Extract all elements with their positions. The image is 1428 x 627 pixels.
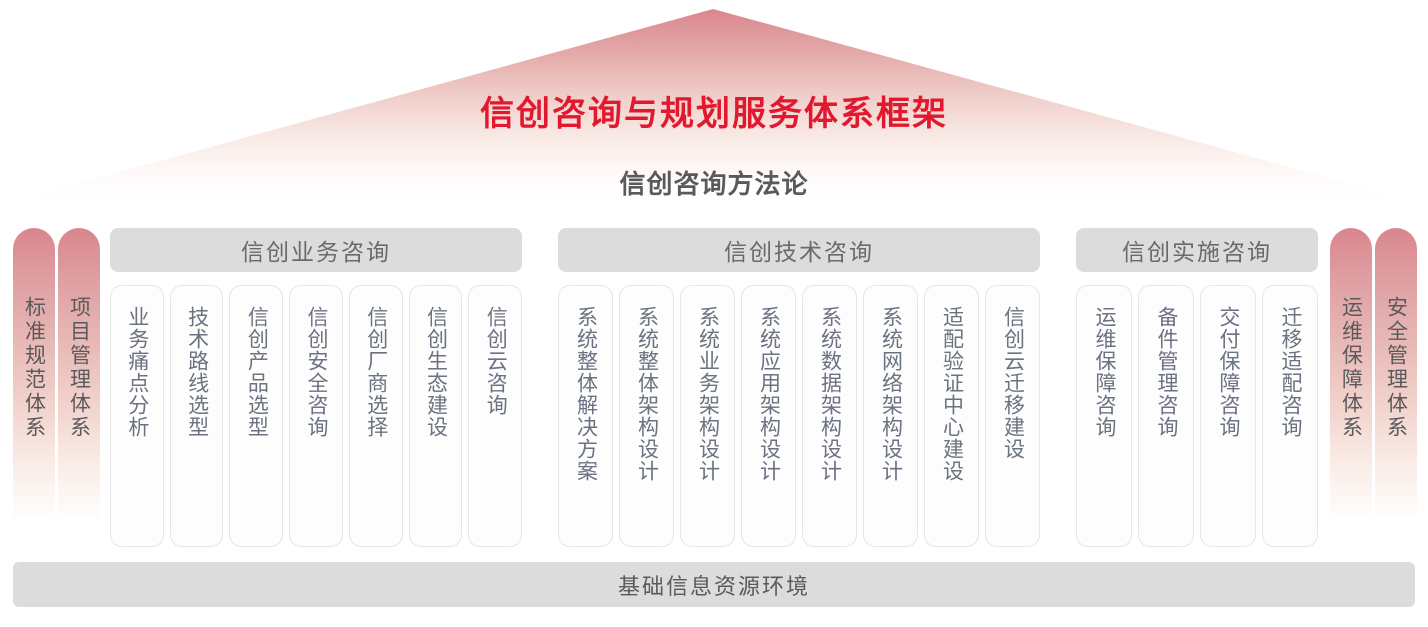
item-label: 系统整体解决方案 — [574, 306, 596, 482]
diagram-canvas: 信创咨询与规划服务体系框架 信创咨询方法论 标准规范体系 项目管理体系 运维保障… — [0, 0, 1428, 627]
item-label: 信创产品选型 — [245, 306, 267, 438]
item-card[interactable]: 系统数据架构设计 — [802, 285, 857, 547]
item-card[interactable]: 信创产品选型 — [229, 285, 283, 547]
group-item-list: 系统整体解决方案 系统整体架构设计 系统业务架构设计 系统应用架构设计 系统数据… — [558, 285, 1040, 547]
item-card[interactable]: 信创云迁移建设 — [985, 285, 1040, 547]
item-label: 系统业务架构设计 — [696, 306, 718, 482]
item-card[interactable]: 信创云咨询 — [468, 285, 522, 547]
item-label: 技术路线选型 — [186, 306, 208, 438]
item-card[interactable]: 技术路线选型 — [170, 285, 224, 547]
item-card[interactable]: 信创厂商选择 — [349, 285, 403, 547]
pillar-security-management: 安全管理体系 — [1375, 228, 1417, 548]
pillar-label: 标准规范体系 — [24, 296, 45, 440]
group-item-list: 业务痛点分析 技术路线选型 信创产品选型 信创安全咨询 信创厂商选择 信创生态建… — [110, 285, 522, 547]
pillar-standard-spec: 标准规范体系 — [13, 228, 55, 548]
item-label: 运维保障咨询 — [1093, 306, 1115, 438]
item-card[interactable]: 信创安全咨询 — [289, 285, 343, 547]
group-item-list: 运维保障咨询 备件管理咨询 交付保障咨询 迁移适配咨询 — [1076, 285, 1318, 547]
item-label: 迁移适配咨询 — [1279, 306, 1301, 438]
item-label: 交付保障咨询 — [1217, 306, 1239, 438]
item-label: 信创生态建设 — [424, 306, 446, 438]
item-card[interactable]: 信创生态建设 — [409, 285, 463, 547]
item-label: 系统网络架构设计 — [879, 306, 901, 482]
pillar-project-management: 项目管理体系 — [58, 228, 100, 548]
item-label: 系统应用架构设计 — [757, 306, 779, 482]
item-card[interactable]: 系统应用架构设计 — [741, 285, 796, 547]
item-card[interactable]: 迁移适配咨询 — [1262, 285, 1318, 547]
item-card[interactable]: 业务痛点分析 — [110, 285, 164, 547]
page-subtitle: 信创咨询方法论 — [0, 170, 1428, 199]
group-header: 信创实施咨询 — [1076, 228, 1318, 272]
group-technical-consulting: 信创技术咨询 系统整体解决方案 系统整体架构设计 系统业务架构设计 系统应用架构… — [558, 228, 1040, 547]
item-card[interactable]: 适配验证中心建设 — [924, 285, 979, 547]
item-label: 系统数据架构设计 — [818, 306, 840, 482]
item-card[interactable]: 运维保障咨询 — [1076, 285, 1132, 547]
pillar-label: 项目管理体系 — [69, 296, 90, 440]
item-label: 信创安全咨询 — [305, 306, 327, 438]
foundation-bar: 基础信息资源环境 — [13, 562, 1415, 607]
pillar-ops-guarantee: 运维保障体系 — [1330, 228, 1372, 548]
item-label: 业务痛点分析 — [126, 306, 148, 438]
item-card[interactable]: 系统整体架构设计 — [619, 285, 674, 547]
item-card[interactable]: 系统整体解决方案 — [558, 285, 613, 547]
item-card[interactable]: 系统业务架构设计 — [680, 285, 735, 547]
pillar-label: 安全管理体系 — [1386, 296, 1407, 440]
page-title: 信创咨询与规划服务体系框架 — [0, 96, 1428, 133]
item-card[interactable]: 交付保障咨询 — [1200, 285, 1256, 547]
item-card[interactable]: 系统网络架构设计 — [863, 285, 918, 547]
group-implementation-consulting: 信创实施咨询 运维保障咨询 备件管理咨询 交付保障咨询 迁移适配咨询 — [1076, 228, 1318, 547]
item-card[interactable]: 备件管理咨询 — [1138, 285, 1194, 547]
item-label: 系统整体架构设计 — [635, 306, 657, 482]
item-label: 信创云迁移建设 — [1001, 306, 1023, 460]
group-header: 信创技术咨询 — [558, 228, 1040, 272]
item-label: 信创厂商选择 — [365, 306, 387, 438]
item-label: 信创云咨询 — [484, 306, 506, 416]
group-business-consulting: 信创业务咨询 业务痛点分析 技术路线选型 信创产品选型 信创安全咨询 信创厂商选… — [110, 228, 522, 547]
item-label: 适配验证中心建设 — [940, 306, 962, 482]
pillar-label: 运维保障体系 — [1341, 296, 1362, 440]
item-label: 备件管理咨询 — [1155, 306, 1177, 438]
group-header: 信创业务咨询 — [110, 228, 522, 272]
